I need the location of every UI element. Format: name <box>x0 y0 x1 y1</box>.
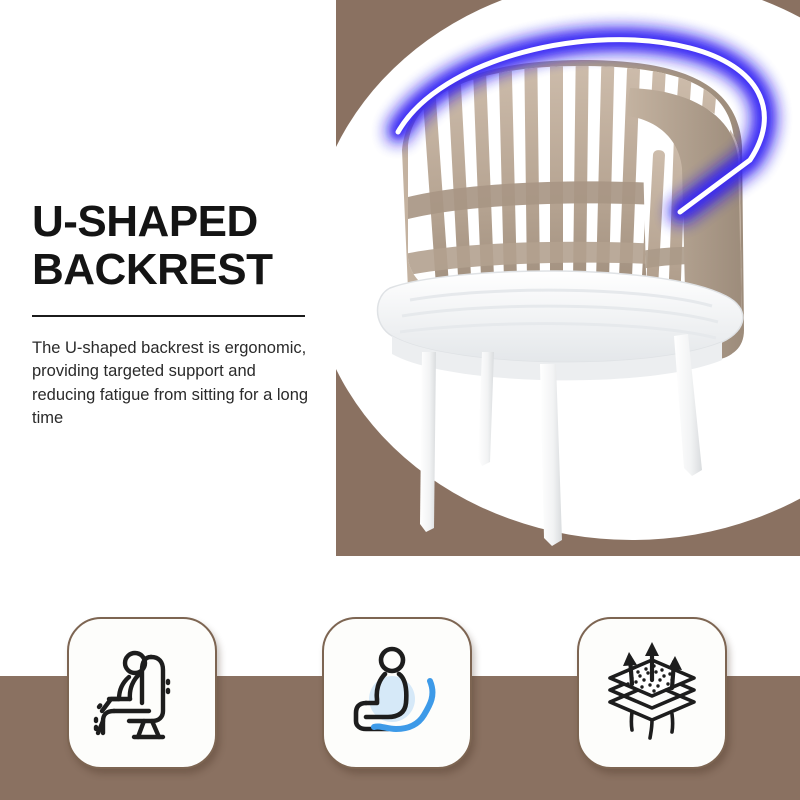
product-image <box>330 0 800 570</box>
woven-rope-accent-chair-illustration <box>330 0 800 570</box>
chair-leg-front-center <box>540 364 562 546</box>
feature-card-seated-posture[interactable] <box>67 617 217 769</box>
feature-card-row <box>0 617 800 777</box>
headline-line-2: BACKREST <box>32 246 322 294</box>
page-title: U-SHAPED BACKREST <box>32 198 322 293</box>
feature-description: The U-shaped backrest is ergonomic, prov… <box>32 337 312 431</box>
person-seated-in-chair-icon <box>89 641 195 745</box>
breathable-airflow-layers-icon <box>598 640 706 746</box>
title-divider <box>32 315 305 317</box>
feature-text-block: U-SHAPED BACKREST The U-shaped backrest … <box>32 198 322 431</box>
feature-card-breathable-layers[interactable] <box>577 617 727 769</box>
chair-leg-front-left <box>420 352 436 532</box>
feature-card-ergonomic-support[interactable] <box>322 617 472 769</box>
ergonomic-spine-support-icon <box>344 641 450 745</box>
infographic-canvas: U-SHAPED BACKREST The U-shaped backrest … <box>0 0 800 800</box>
headline-line-1: U-SHAPED <box>32 197 258 246</box>
